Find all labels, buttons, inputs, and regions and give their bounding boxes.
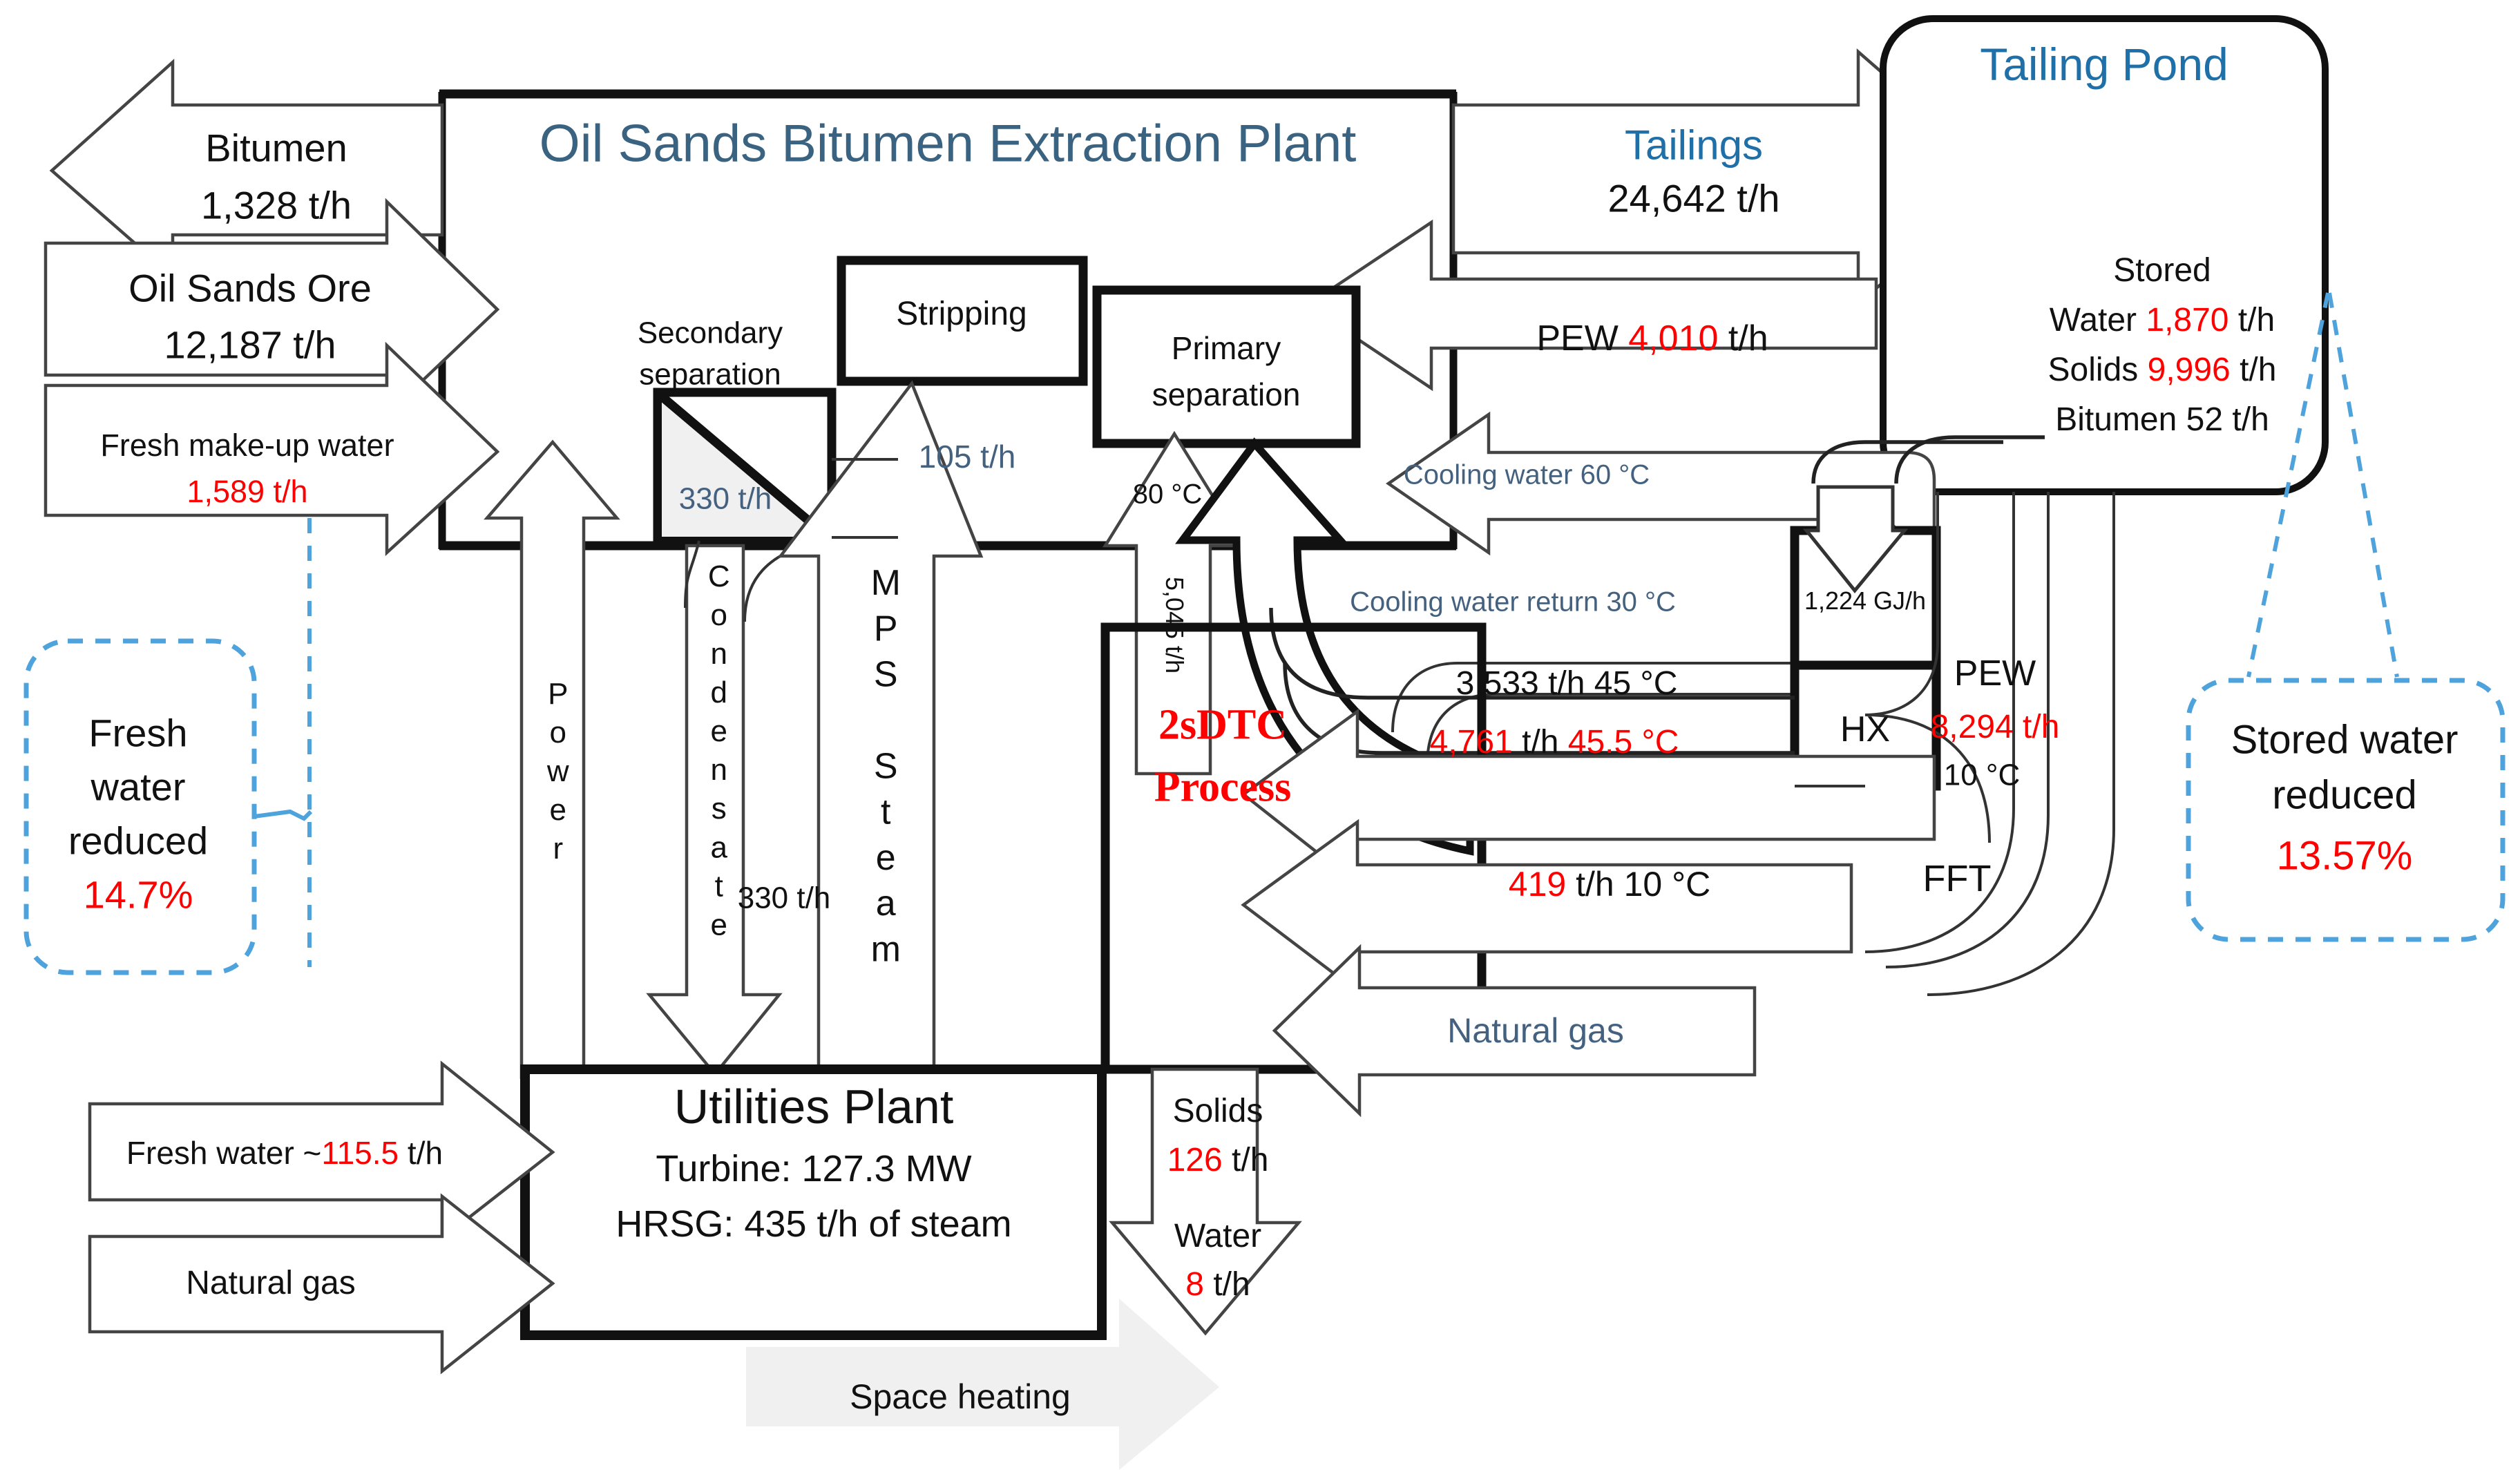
stream-pew-from-hx-label: PEW <box>1954 653 2036 694</box>
tailing-pond-row-water: Water 1,870 t/h <box>2050 302 2275 339</box>
unit-secondary-separation-line2: separation <box>639 357 781 391</box>
fw-unit: t/h <box>408 1135 443 1171</box>
unit-utilities-plant-title: Utilities Plant <box>674 1080 954 1134</box>
row-label: Solids <box>2048 352 2139 388</box>
stream-solids-out-value: 126 t/h <box>1167 1142 1269 1179</box>
unit-utilities-hrsg: HRSG: 435 t/h of steam <box>615 1203 1011 1245</box>
pew-unit: t/h <box>1728 318 1768 359</box>
unit-primary-separation-line1: Primary <box>1172 331 1281 367</box>
stream-hot-black: 3,533 t/h 45 °C <box>1456 665 1678 702</box>
stream-hot-red: 4,761 t/h 45.5 °C <box>1430 724 1679 761</box>
tailing-pond-row-bitumen: Bitumen 52 t/h <box>2055 401 2269 439</box>
stream-oil-sands-ore-value: 12,187 t/h <box>164 324 336 367</box>
water-unit: t/h <box>1213 1266 1250 1303</box>
fft-value: 419 <box>1509 865 1566 904</box>
stream-pew-from-hx-value: 8,294 t/h <box>1931 709 2060 746</box>
stream-fresh-water-utilities: Fresh water ~115.5 t/h <box>126 1136 443 1172</box>
stream-pew-from-hx-temp: 10 °C <box>1944 758 2021 792</box>
callout-fresh-water-line3: reduced <box>68 820 208 863</box>
unit-dtc-line2: Process <box>1154 763 1292 811</box>
stream-stripping-flow: 105 t/h <box>919 439 1016 475</box>
row-value: 52 <box>2186 401 2223 438</box>
unit-dtc-line1: 2sDTC <box>1158 701 1287 749</box>
solids-unit: t/h <box>1232 1142 1268 1178</box>
stream-primary-sep-flow: 5,045 t/h <box>1161 577 1188 673</box>
solids-value: 126 <box>1167 1142 1223 1178</box>
stream-secondary-sep-flow: 330 t/h <box>679 481 772 515</box>
stream-space-heating: Space heating <box>850 1377 1071 1416</box>
callout-stored-water-line1: Stored water <box>2231 718 2459 763</box>
stream-oil-sands-ore-label: Oil Sands Ore <box>128 267 372 311</box>
row-label: Bitumen <box>2055 401 2177 438</box>
stream-power-label: Power <box>541 677 575 870</box>
stream-bitumen-value: 1,328 t/h <box>201 184 352 228</box>
hot-red-temp: 45.5 °C <box>1568 724 1679 761</box>
row-label: Water <box>2050 302 2137 338</box>
stream-condensate-label: Condensate <box>702 560 736 946</box>
row-unit: t/h <box>2232 401 2269 438</box>
stream-solids-out-label: Solids <box>1173 1093 1263 1130</box>
fw-prefix: Fresh water ~ <box>126 1135 322 1171</box>
stream-water-out-label: Water <box>1174 1218 1261 1255</box>
stream-natural-gas-utilities: Natural gas <box>186 1265 355 1302</box>
callout-stored-water-value: 13.57% <box>2277 834 2413 879</box>
page-title: Oil Sands Bitumen Extraction Plant <box>540 114 1357 173</box>
fft-rest: t/h 10 °C <box>1576 865 1710 904</box>
stream-cooling-water-return: Cooling water return 30 °C <box>1350 587 1676 618</box>
stream-water-out-value: 8 t/h <box>1185 1266 1250 1303</box>
stream-bitumen-label: Bitumen <box>205 127 347 171</box>
stream-pew-to-plant: PEW 4,010 t/h <box>1536 318 1768 359</box>
stream-condensate-flow: 330 t/h <box>738 881 831 915</box>
callout-fresh-water-line2: water <box>91 766 186 810</box>
unit-utilities-turbine: Turbine: 127.3 MW <box>656 1148 971 1189</box>
stream-tailings-label: Tailings <box>1625 122 1763 168</box>
pew-value: 4,010 <box>1628 318 1718 359</box>
pew-label: PEW <box>1536 318 1618 359</box>
stream-cooling-water: Cooling water 60 °C <box>1404 460 1650 491</box>
callout-fresh-water-line1: Fresh <box>88 712 187 756</box>
hot-red-value: 4,761 <box>1430 724 1513 761</box>
stream-natural-gas-dtc: Natural gas <box>1447 1011 1624 1050</box>
row-value: 1,870 <box>2146 302 2228 338</box>
stream-mps-steam-label: MPS Steam <box>866 563 906 975</box>
stream-fft-label: FFT <box>1923 858 1992 899</box>
unit-stripping: Stripping <box>896 296 1027 333</box>
row-value: 9,996 <box>2148 352 2231 388</box>
row-unit: t/h <box>2240 352 2276 388</box>
stream-fft-flow: 419 t/h 10 °C <box>1509 865 1710 904</box>
process-flow-diagram: .hv{fill:#fff;stroke:#111;stroke-width:1… <box>0 0 2520 1472</box>
stream-primary-sep-temp: 80 °C <box>1133 479 1203 510</box>
tailing-pond-title: Tailing Pond <box>1980 39 2228 90</box>
unit-primary-separation-line2: separation <box>1152 377 1301 413</box>
hx-duty-label: 1,224 GJ/h <box>1804 587 1926 615</box>
hot-red-unit: t/h <box>1522 724 1558 761</box>
tailing-pond-row-solids: Solids 9,996 t/h <box>2048 352 2277 389</box>
stream-tailings-value: 24,642 t/h <box>1607 178 1779 221</box>
fw-value: 115.5 <box>321 1135 399 1171</box>
stream-fresh-makeup-water-label: Fresh make-up water <box>100 428 394 463</box>
stream-fresh-makeup-water-value: 1,589 t/h <box>187 475 307 509</box>
unit-secondary-separation-line1: Secondary <box>638 316 783 350</box>
callout-fresh-water-value: 14.7% <box>84 874 193 917</box>
tailing-pond-stored-heading: Stored <box>2113 252 2211 289</box>
callout-stored-water-line2: reduced <box>2272 774 2417 819</box>
row-unit: t/h <box>2238 302 2275 338</box>
water-value: 8 <box>1185 1266 1204 1303</box>
hx-label: HX <box>1840 709 1890 749</box>
